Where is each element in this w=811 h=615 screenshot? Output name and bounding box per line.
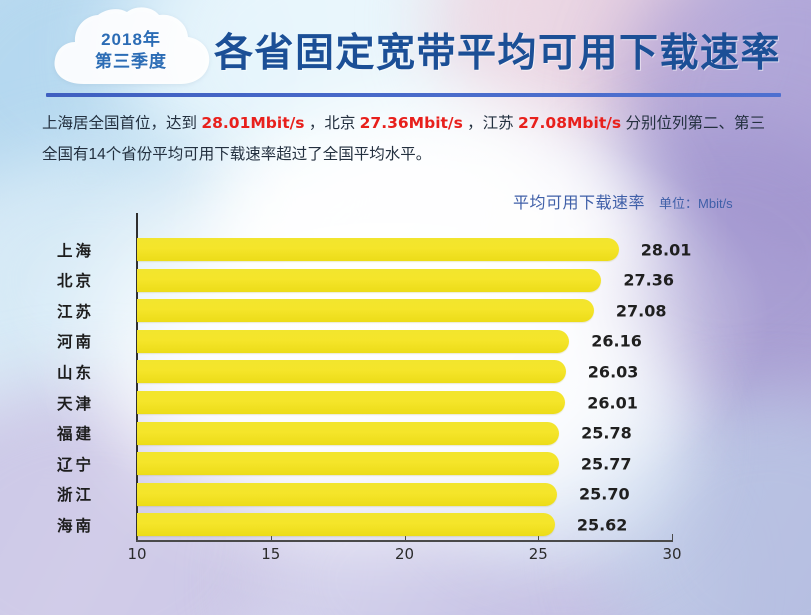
summary-paragraph: 上海居全国首位，达到 28.01Mbit/s ，北京 27.36Mbit/s ，… xyxy=(42,108,782,170)
summary-seg-3: ，江苏 xyxy=(467,115,514,132)
badge-quarter: 第三季度 xyxy=(95,51,167,73)
summary-seg-1: 上海居全国首位，达到 xyxy=(42,115,197,132)
page-title: 各省固定宽带平均可用下载速率 xyxy=(214,22,781,78)
infographic-root: 2018年 第三季度 各省固定宽带平均可用下载速率 上海居全国首位，达到 28.… xyxy=(0,0,811,615)
summary-value-shanghai: 28.01Mbit/s xyxy=(201,114,304,132)
header-divider xyxy=(46,93,781,97)
chart-legend: 平均可用下载速率 单位：Mbit/s xyxy=(513,189,733,213)
legend-series-label: 平均可用下载速率 xyxy=(513,189,645,213)
summary-line-2: 全国有14个省份平均可用下载速率超过了全国平均水平。 xyxy=(42,146,431,163)
quarter-badge: 2018年 第三季度 xyxy=(48,6,214,88)
legend-unit-label: 单位：Mbit/s xyxy=(659,193,733,212)
quarter-badge-text: 2018年 第三季度 xyxy=(48,6,214,88)
summary-seg-2: ，北京 xyxy=(309,115,356,132)
summary-seg-4: 分别位列第二、第三 xyxy=(625,115,765,132)
summary-value-jiangsu: 27.08Mbit/s xyxy=(518,114,621,132)
badge-year: 2018年 xyxy=(101,29,161,51)
summary-value-beijing: 27.36Mbit/s xyxy=(360,114,463,132)
